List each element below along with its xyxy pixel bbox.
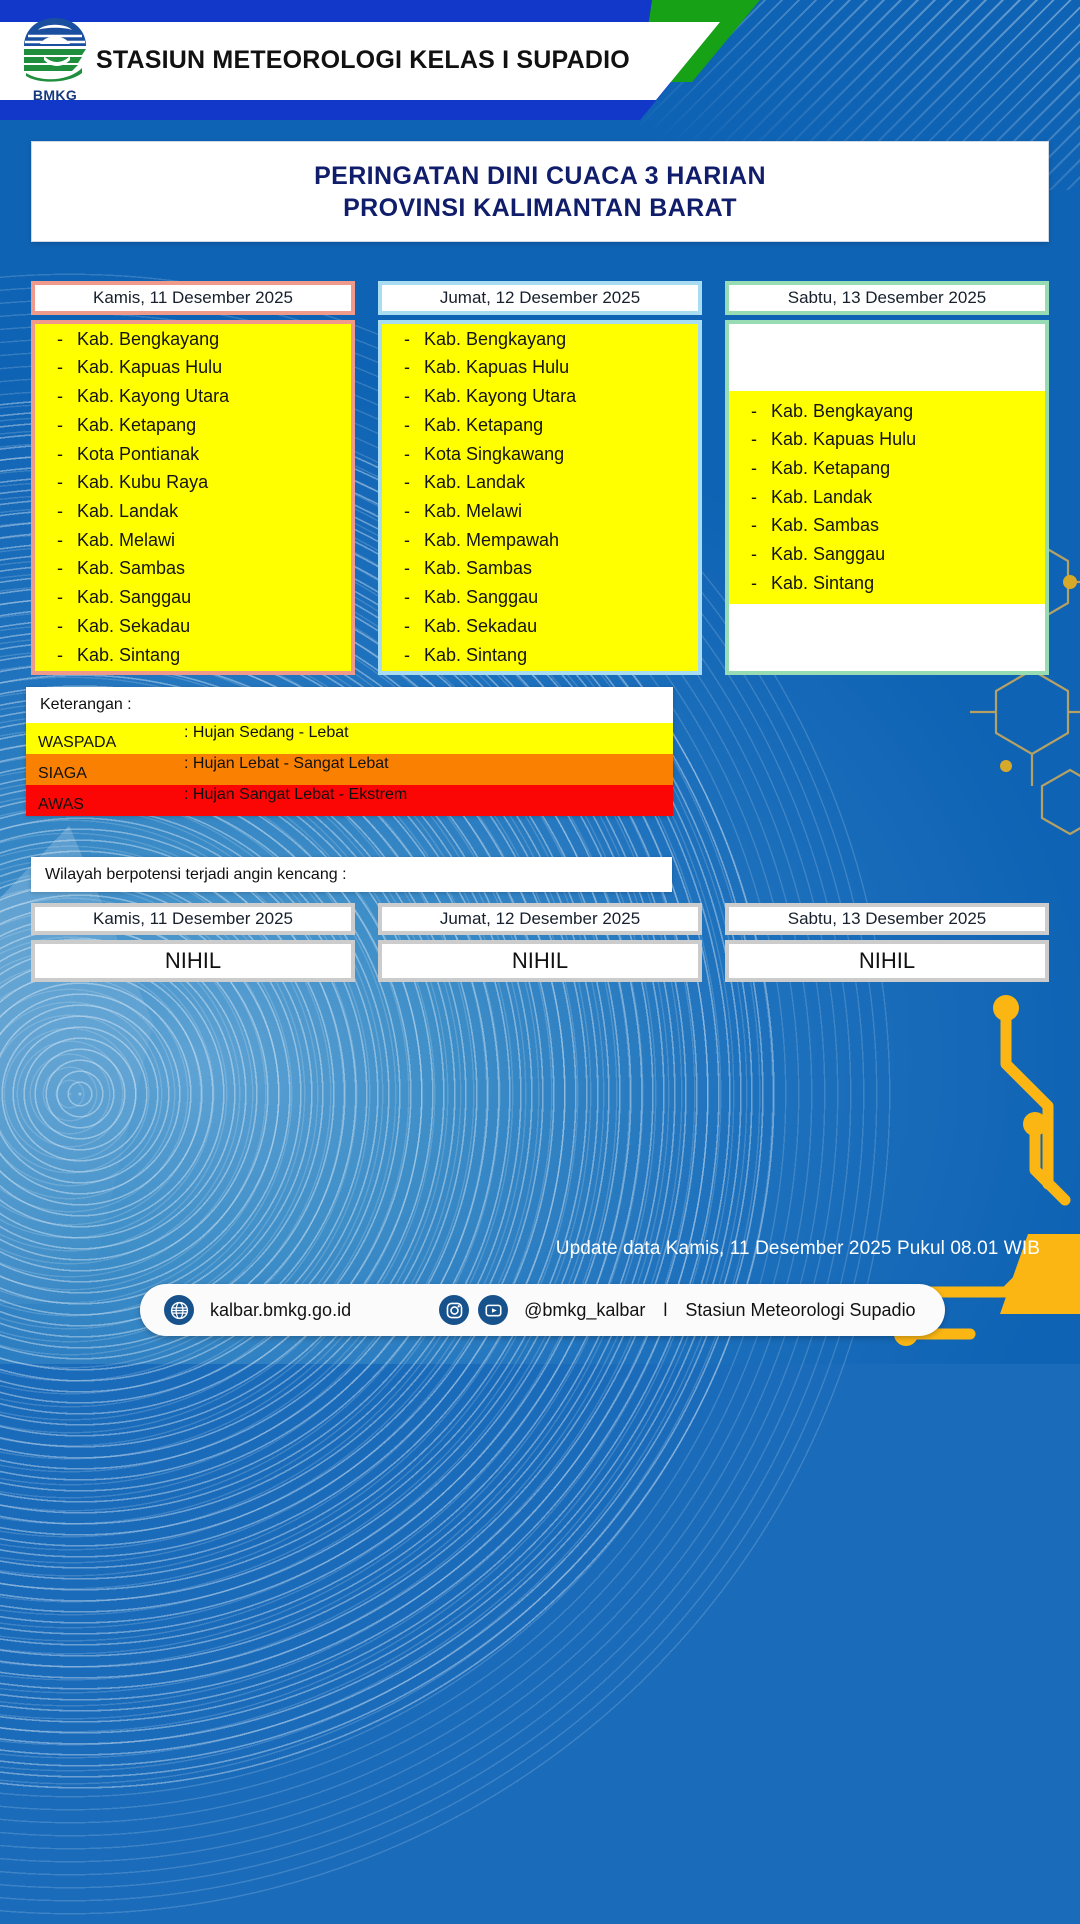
wind-value-3: NIHIL	[725, 940, 1049, 982]
forecast-day-columns: Kamis, 11 Desember 2025 -Kab. Bengkayang…	[31, 281, 1049, 675]
region-item: -Kab. Sanggau	[382, 583, 698, 612]
region-item: -Kab. Sintang	[35, 641, 351, 670]
main-title-banner: PERINGATAN DINI CUACA 3 HARIAN PROVINSI …	[31, 141, 1049, 242]
legend-box: Keterangan : WASPADA : Hujan Sedang - Le…	[26, 687, 673, 816]
region-item: -Kab. Kapuas Hulu	[382, 353, 698, 382]
legend-desc-awas: : Hujan Sangat Lebat - Ekstrem	[184, 786, 407, 804]
legend-row-siaga: SIAGA : Hujan Lebat - Sangat Lebat	[26, 754, 673, 785]
instagram-icon[interactable]	[439, 1295, 469, 1325]
waspada-band-2: -Kab. Bengkayang -Kab. Kapuas Hulu -Kab.…	[382, 320, 698, 675]
station-title: STASIUN METEOROLOGI KELAS I SUPADIO	[96, 46, 630, 75]
region-item: -Kab. Landak	[729, 483, 1045, 512]
day-header-3: Sabtu, 13 Desember 2025	[725, 281, 1049, 315]
wind-column-3: Sabtu, 13 Desember 2025 NIHIL	[725, 903, 1049, 982]
day-body-3: -Kab. Bengkayang -Kab. Kapuas Hulu -Kab.…	[725, 320, 1049, 675]
legend-row-waspada: WASPADA : Hujan Sedang - Lebat	[26, 723, 673, 754]
wind-value-2: NIHIL	[378, 940, 702, 982]
banner-line-2: PROVINSI KALIMANTAN BARAT	[343, 192, 737, 224]
legend-label-siaga: SIAGA	[38, 765, 87, 783]
legend-row-awas: AWAS : Hujan Sangat Lebat - Ekstrem	[26, 785, 673, 816]
region-item: -Kota Singkawang	[382, 440, 698, 469]
youtube-icon[interactable]	[478, 1295, 508, 1325]
waspada-band-1: -Kab. Bengkayang -Kab. Kapuas Hulu -Kab.…	[35, 320, 351, 675]
region-item: -Kab. Sekadau	[382, 612, 698, 641]
wind-section-title: Wilayah berpotensi terjadi angin kencang…	[31, 857, 672, 892]
region-item: -Kab. Mempawah	[382, 526, 698, 555]
day-body-1: -Kab. Bengkayang -Kab. Kapuas Hulu -Kab.…	[31, 320, 355, 675]
region-item: -Kab. Sanggau	[729, 540, 1045, 569]
station-name-footer: Stasiun Meteorologi Supadio	[685, 1300, 915, 1321]
region-item: -Kab. Sintang	[382, 641, 698, 670]
region-item: -Kab. Sambas	[729, 511, 1045, 540]
globe-icon[interactable]	[164, 1295, 194, 1325]
region-item: -Kab. Kubu Raya	[35, 468, 351, 497]
bmkg-logo: BMKG	[18, 16, 92, 104]
region-item: -Kab. Sanggau	[35, 583, 351, 612]
region-item: -Kab. Kapuas Hulu	[729, 425, 1045, 454]
region-item: -Kab. Melawi	[35, 526, 351, 555]
wind-header-1: Kamis, 11 Desember 2025	[31, 903, 355, 935]
waspada-band-3: -Kab. Bengkayang -Kab. Kapuas Hulu -Kab.…	[729, 391, 1045, 605]
social-handle[interactable]: @bmkg_kalbar	[524, 1300, 645, 1321]
wind-header-2: Jumat, 12 Desember 2025	[378, 903, 702, 935]
region-item: -Kota Pontianak	[35, 440, 351, 469]
footer-separator: l	[659, 1300, 671, 1321]
region-item: -Kab. Landak	[382, 468, 698, 497]
legend-desc-waspada: : Hujan Sedang - Lebat	[184, 724, 349, 742]
footer-contact-bar: kalbar.bmkg.go.id @bmkg_kalbar l Stasiun…	[140, 1284, 945, 1336]
logo-caption: BMKG	[18, 87, 92, 103]
region-item: -Kab. Sintang	[729, 569, 1045, 598]
region-item: -Kab. Bengkayang	[382, 325, 698, 354]
region-item: -Kab. Sambas	[35, 554, 351, 583]
wind-columns: Kamis, 11 Desember 2025 NIHIL Jumat, 12 …	[31, 903, 1049, 982]
day-body-2: -Kab. Bengkayang -Kab. Kapuas Hulu -Kab.…	[378, 320, 702, 675]
region-item: -Kab. Ketapang	[729, 454, 1045, 483]
legend-label-waspada: WASPADA	[38, 734, 116, 752]
wind-value-1: NIHIL	[31, 940, 355, 982]
day-column-2: Jumat, 12 Desember 2025 -Kab. Bengkayang…	[378, 281, 702, 675]
region-item: -Kab. Sambas	[382, 554, 698, 583]
region-item: -Kab. Ketapang	[382, 411, 698, 440]
region-item: -Kab. Melawi	[382, 497, 698, 526]
legend-title: Keterangan :	[26, 687, 673, 723]
day-header-1: Kamis, 11 Desember 2025	[31, 281, 355, 315]
legend-label-awas: AWAS	[38, 796, 84, 814]
region-item: -Kab. Kapuas Hulu	[35, 353, 351, 382]
day-column-1: Kamis, 11 Desember 2025 -Kab. Bengkayang…	[31, 281, 355, 675]
legend-desc-siaga: : Hujan Lebat - Sangat Lebat	[184, 755, 389, 773]
banner-line-1: PERINGATAN DINI CUACA 3 HARIAN	[314, 160, 766, 192]
update-timestamp: Update data Kamis, 11 Desember 2025 Puku…	[556, 1238, 1040, 1260]
website-label[interactable]: kalbar.bmkg.go.id	[210, 1300, 351, 1321]
wind-header-3: Sabtu, 13 Desember 2025	[725, 903, 1049, 935]
region-item: -Kab. Sekadau	[35, 612, 351, 641]
page-header: BMKG STASIUN METEOROLOGI KELAS I SUPADIO	[0, 0, 1080, 120]
region-item: -Kab. Landak	[35, 497, 351, 526]
day-header-2: Jumat, 12 Desember 2025	[378, 281, 702, 315]
region-item: -Kab. Bengkayang	[729, 397, 1045, 426]
region-item: -Kab. Kayong Utara	[35, 382, 351, 411]
region-item: -Kab. Kayong Utara	[382, 382, 698, 411]
wind-column-2: Jumat, 12 Desember 2025 NIHIL	[378, 903, 702, 982]
bmkg-logo-mark	[18, 16, 92, 84]
region-item: -Kab. Bengkayang	[35, 325, 351, 354]
day-column-3: Sabtu, 13 Desember 2025 -Kab. Bengkayang…	[725, 281, 1049, 675]
region-item: -Kab. Ketapang	[35, 411, 351, 440]
wind-column-1: Kamis, 11 Desember 2025 NIHIL	[31, 903, 355, 982]
